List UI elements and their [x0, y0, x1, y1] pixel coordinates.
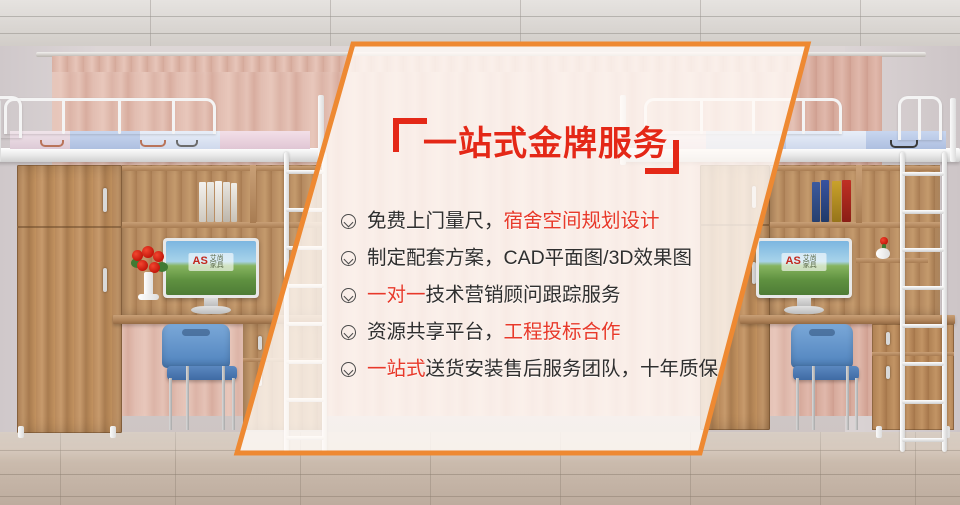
- feature-text-part: 资源共享平台，: [367, 323, 504, 343]
- bracket-top-left-icon: [393, 118, 427, 152]
- feature-text-part: 制定配套方案，CAD平面图/3D效果图: [367, 249, 692, 269]
- chevron-down-circle-icon: [341, 214, 356, 229]
- list-item: 制定配套方案，CAD平面图/3D效果图: [341, 240, 741, 277]
- banner-stage: AS 艾尚家具: [0, 0, 960, 505]
- chevron-down-circle-icon: [341, 288, 356, 303]
- feature-text-part: 免费上门量尺，: [367, 212, 504, 232]
- feature-text-highlight: 宿舍空间规划设计: [504, 212, 660, 232]
- feature-text-highlight: 一对一: [367, 286, 426, 306]
- feature-text-part: 送货安装售后服务团队，十年质保: [426, 360, 719, 380]
- page-title: 一站式金牌服务: [423, 122, 668, 166]
- list-item: 一站式送货安装售后服务团队，十年质保: [341, 351, 741, 388]
- chevron-down-circle-icon: [341, 362, 356, 377]
- panel-content: 一站式金牌服务 免费上门量尺，宿舍空间规划设计 制定配套方案，CAD平面图/3D…: [0, 0, 960, 505]
- panel-title-block: 一站式金牌服务: [393, 118, 683, 180]
- feature-text-part: 技术营销顾问跟踪服务: [426, 286, 621, 306]
- chevron-down-circle-icon: [341, 251, 356, 266]
- list-item: 资源共享平台，工程投标合作: [341, 314, 741, 351]
- feature-text-highlight: 工程投标合作: [504, 323, 621, 343]
- bracket-bottom-right-icon: [645, 140, 679, 174]
- feature-text-highlight: 一站式: [367, 360, 426, 380]
- chevron-down-circle-icon: [341, 325, 356, 340]
- list-item: 免费上门量尺，宿舍空间规划设计: [341, 203, 741, 240]
- service-feature-list: 免费上门量尺，宿舍空间规划设计 制定配套方案，CAD平面图/3D效果图 一对一技…: [341, 203, 741, 388]
- list-item: 一对一技术营销顾问跟踪服务: [341, 277, 741, 314]
